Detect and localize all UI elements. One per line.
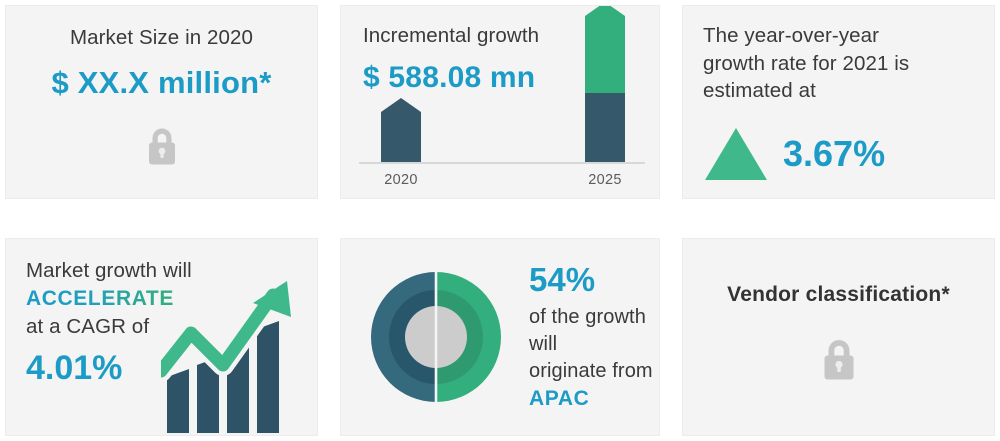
region-share-region: APAC: [529, 385, 659, 412]
yoy-line-2: growth rate for 2021 is: [703, 50, 974, 78]
vendor-classification-title: Vendor classification*: [701, 283, 976, 307]
panel-yoy-growth: The year-over-year growth rate for 2021 …: [682, 5, 995, 199]
bar-2025: [585, 5, 625, 162]
cagr-emphasis: ACCELERATE: [26, 287, 174, 311]
panel-market-size: Market Size in 2020 $ XX.X million*: [5, 5, 318, 199]
yoy-value-row: 3.67%: [705, 128, 885, 180]
yoy-line-3: estimated at: [703, 77, 974, 105]
region-share-line-1: of the growth will: [529, 304, 659, 358]
infographic-root: Market Size in 2020 $ XX.X million* Incr…: [0, 0, 1000, 441]
panel-incremental-growth: Incremental growth $ 588.08 mn 2020 2025: [340, 5, 660, 199]
up-triangle-icon: [705, 128, 767, 180]
panel-cagr: Market growth will ACCELERATE at a CAGR …: [5, 238, 318, 436]
region-share-line-2: originate from: [529, 358, 659, 385]
panel-region-share: 54% of the growth will originate from AP…: [340, 238, 660, 436]
yoy-value: 3.67%: [783, 134, 885, 174]
bar-2020: [381, 98, 421, 162]
region-share-text: 54% of the growth will originate from AP…: [529, 262, 659, 413]
incremental-growth-bar-chart: 2020 2025: [359, 94, 645, 192]
region-share-donut-chart: [367, 268, 505, 406]
tick-label-2020: 2020: [361, 172, 441, 188]
panel-vendor-classification: Vendor classification*: [682, 238, 995, 436]
yoy-line-1: The year-over-year: [703, 22, 974, 50]
lock-icon: [819, 335, 859, 383]
tick-label-2025: 2025: [565, 172, 645, 188]
market-size-heading: Market Size in 2020: [24, 24, 299, 52]
growth-arrow-bars-icon: [161, 273, 311, 433]
region-share-value: 54%: [529, 262, 659, 298]
market-size-value: $ XX.X million*: [24, 64, 299, 101]
lock-icon: [144, 124, 180, 168]
chart-axis-line: [359, 162, 645, 164]
